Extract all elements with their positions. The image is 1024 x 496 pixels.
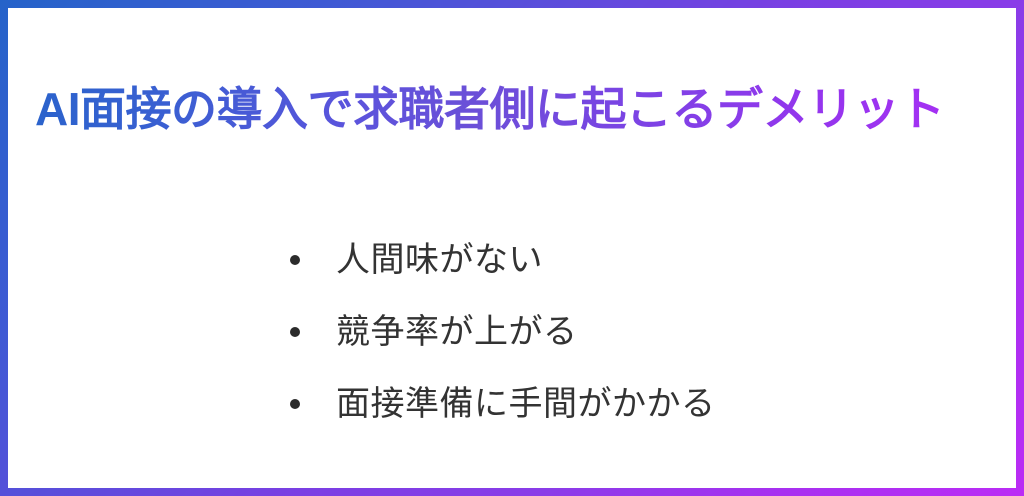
list-item: 面接準備に手間がかかる	[290, 368, 716, 440]
slide-canvas: AI面接の導入で求職者側に起こるデメリット 人間味がない 競争率が上がる 面接準…	[8, 8, 1016, 488]
slide-frame: AI面接の導入で求職者側に起こるデメリット 人間味がない 競争率が上がる 面接準…	[0, 0, 1024, 496]
bullet-dot-icon	[290, 399, 300, 409]
list-item: 競争率が上がる	[290, 296, 716, 368]
list-item-label: 面接準備に手間がかかる	[336, 387, 716, 421]
bullet-list: 人間味がない 競争率が上がる 面接準備に手間がかかる	[290, 224, 716, 440]
list-item: 人間味がない	[290, 224, 716, 296]
bullet-dot-icon	[290, 327, 300, 337]
list-item-label: 人間味がない	[336, 243, 543, 277]
bullet-dot-icon	[290, 255, 300, 265]
list-item-label: 競争率が上がる	[336, 315, 578, 349]
page-title: AI面接の導入で求職者側に起こるデメリット	[35, 82, 997, 136]
